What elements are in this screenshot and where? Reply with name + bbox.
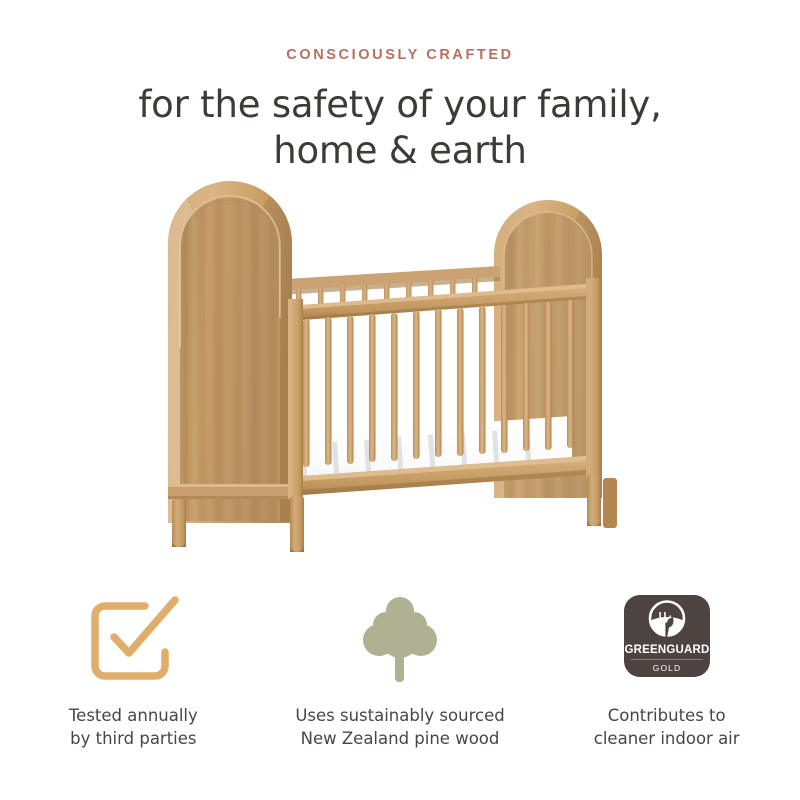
crib-headboard [168,181,292,547]
headline-line-2: home & earth [0,128,800,174]
feature-item-greenguard: U L GREENGUARD GOLD Contributes to clean… [533,590,800,765]
marketing-page: CONSCIOUSLY CRAFTED for the safety of yo… [0,0,800,800]
greenguard-gold-badge-icon: U L GREENGUARD GOLD [617,590,717,690]
feature-caption-line-1: Tested annually [69,706,198,725]
feature-caption: Uses sustainably sourced New Zealand pin… [295,704,504,750]
feature-caption-line-2: New Zealand pine wood [295,727,504,750]
page-title: for the safety of your family, home & ea… [0,82,800,174]
feature-caption-line-1: Uses sustainably sourced [295,706,504,725]
feature-caption: Contributes to cleaner indoor air [594,704,740,750]
crib-illustration [0,178,800,578]
feature-item-tested-annually: Tested annually by third parties [0,590,267,765]
badge-wordmark: GREENGUARD [624,644,709,656]
feature-item-sustainable-wood: Uses sustainably sourced New Zealand pin… [267,590,534,765]
feature-caption-line-2: cleaner indoor air [594,727,740,750]
checkbox-check-icon [83,590,183,690]
feature-list: Tested annually by third parties [0,590,800,765]
feature-caption: Tested annually by third parties [69,704,198,750]
headline-line-1: for the safety of your family, [138,83,661,126]
tree-icon [350,590,450,690]
feature-caption-line-1: Contributes to [608,706,726,725]
badge-tier: GOLD [652,663,681,673]
feature-caption-line-2: by third parties [69,727,198,750]
svg-text:U: U [658,610,666,622]
product-image-crib [0,178,800,578]
eyebrow-text: CONSCIOUSLY CRAFTED [0,47,800,63]
